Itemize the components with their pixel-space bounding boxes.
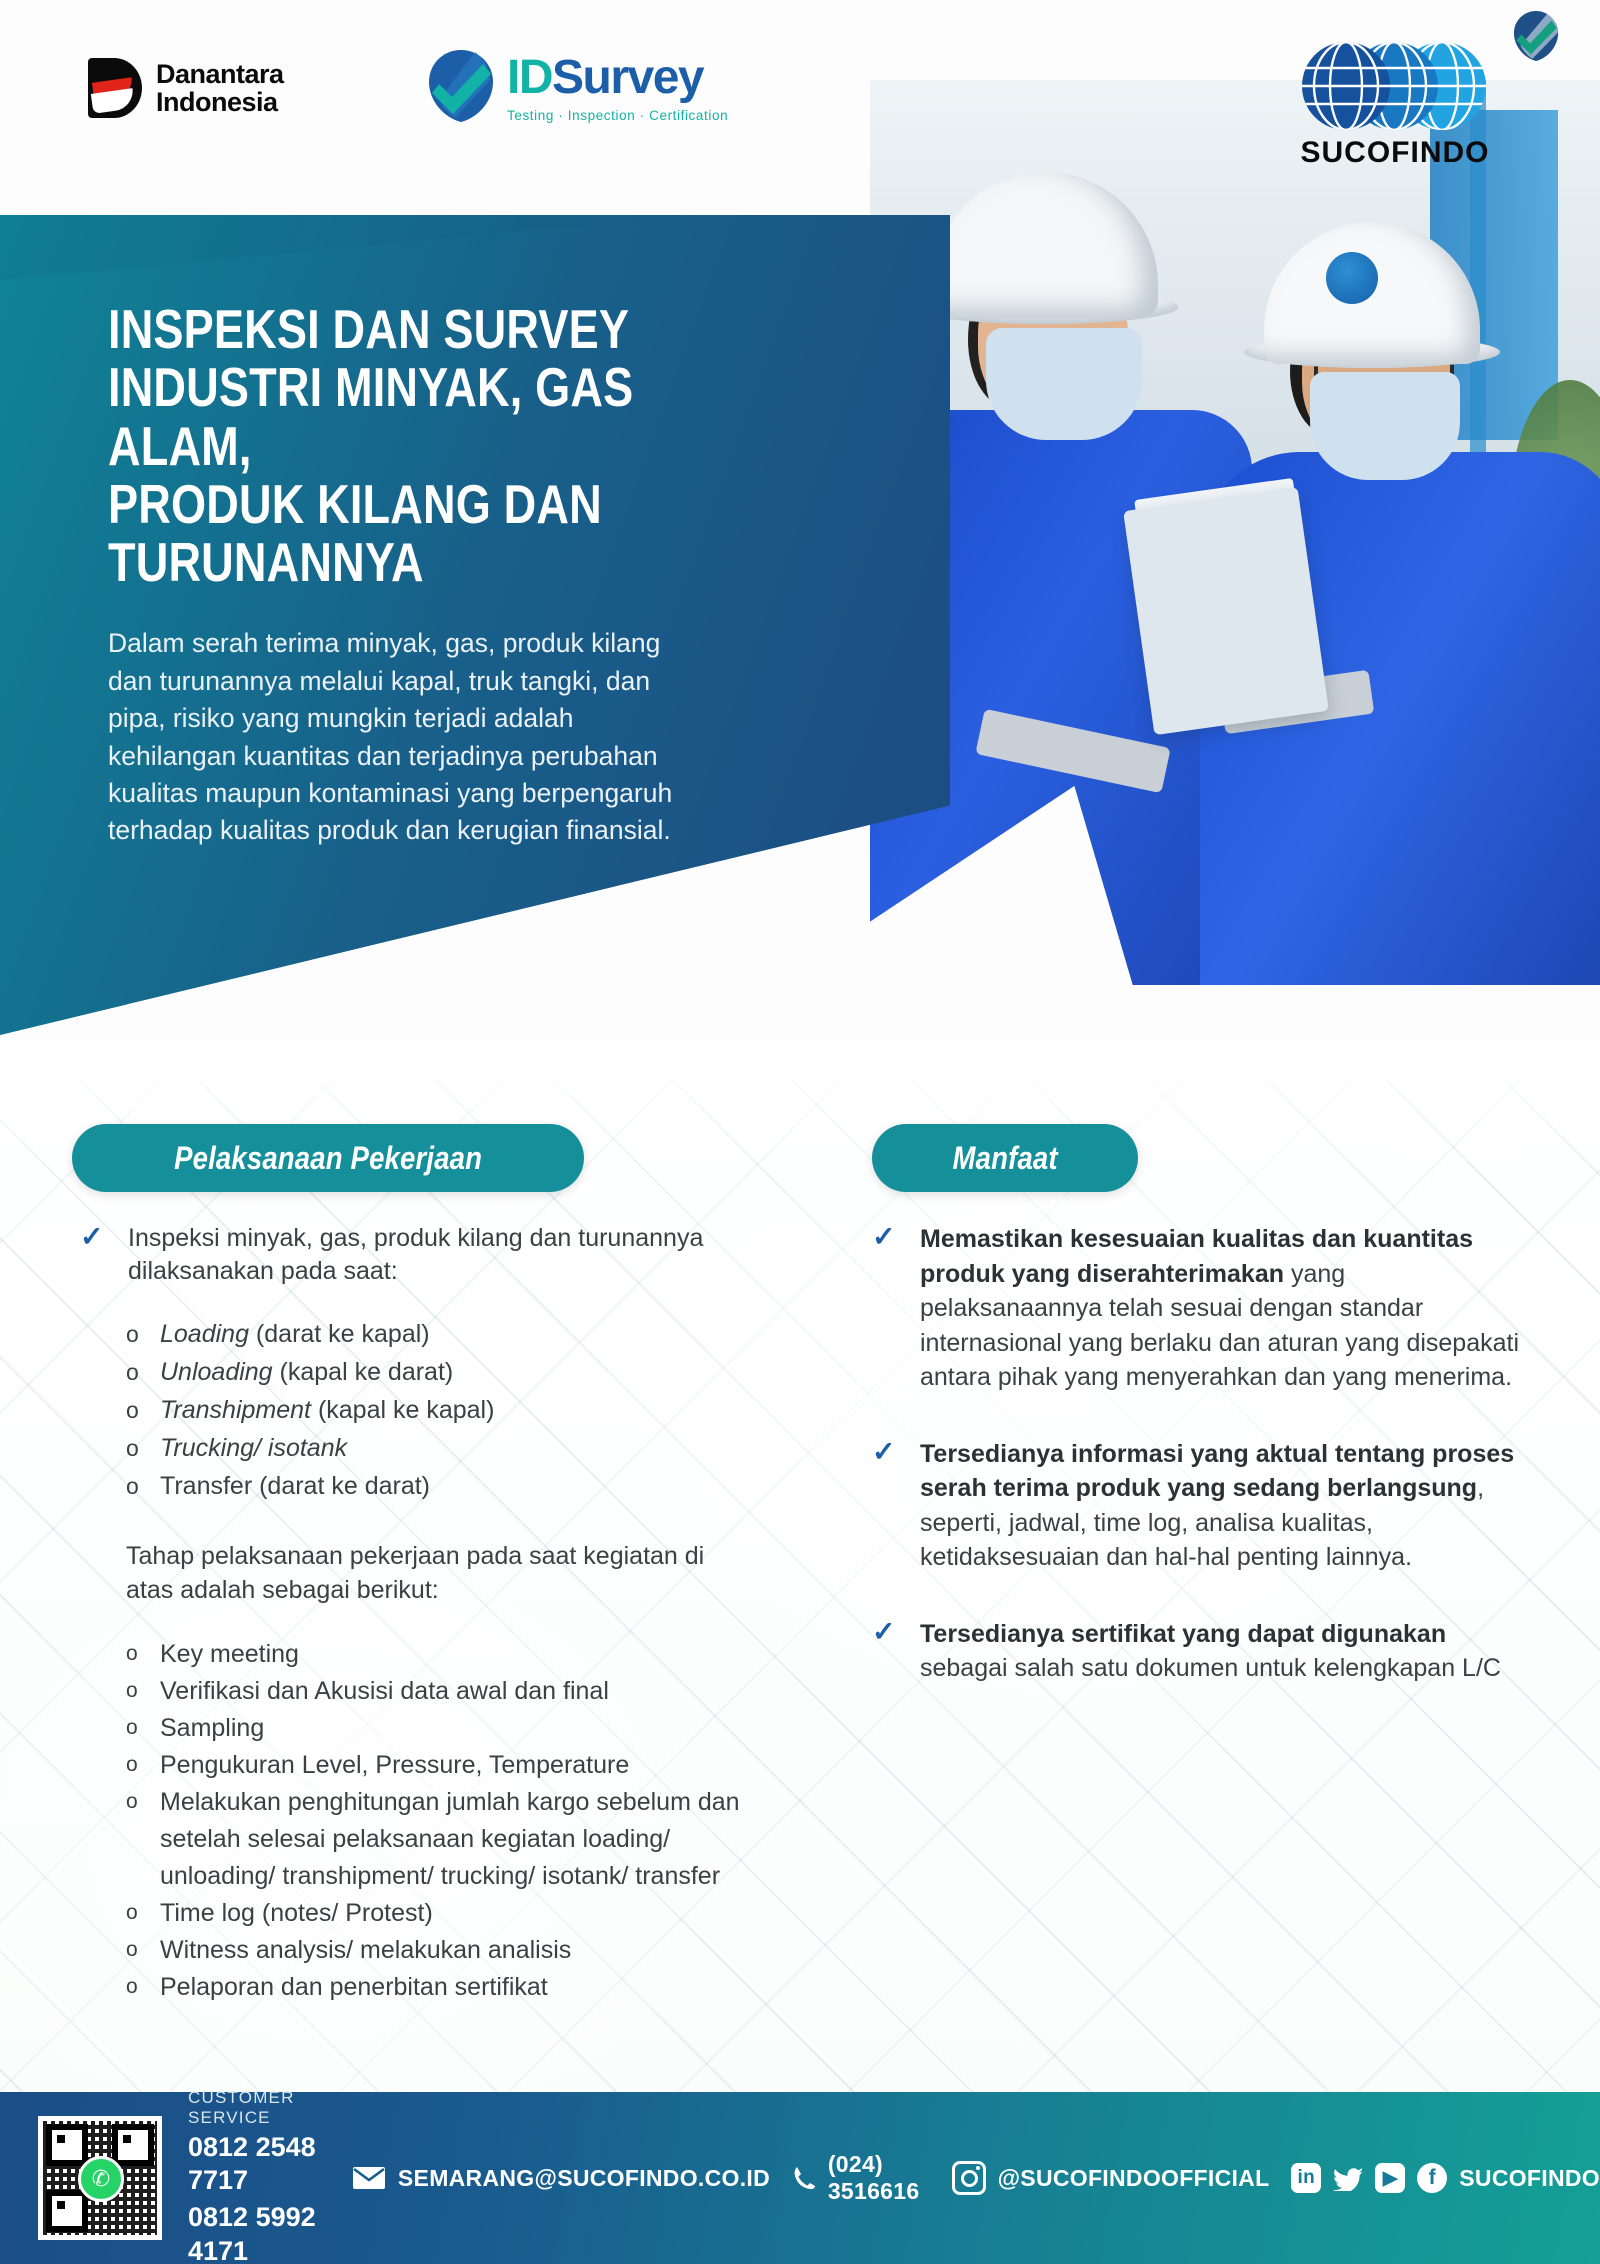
left-column: ✓ Inspeksi minyak, gas, produk kilang da… — [80, 1222, 800, 2006]
idsurvey-wordmark: IDSurvey Testing · Inspection · Certific… — [507, 54, 728, 123]
linkedin-icon[interactable]: in — [1291, 2163, 1321, 2193]
circle-bullet-icon: o — [126, 1431, 142, 1466]
hero-description: Dalam serah terima minyak, gas, produk k… — [108, 625, 748, 849]
instagram-contact[interactable]: @SUCOFINDOOFFICIAL — [952, 2161, 1270, 2195]
photo-clipboard — [1123, 487, 1329, 735]
check-icon: ✓ — [872, 1437, 898, 1468]
list-item: o Unloading (kapal ke darat) — [126, 1353, 800, 1391]
circle-bullet-icon: o — [126, 1932, 142, 1968]
idsurvey-tagline: Testing · Inspection · Certification — [507, 108, 728, 123]
left-intro-text: Inspeksi minyak, gas, produk kilang dan … — [128, 1222, 800, 1289]
circle-bullet-icon: o — [126, 1355, 142, 1390]
email-contact[interactable]: SEMARANG@SUCOFINDO.CO.ID — [352, 2165, 770, 2192]
stage-text: Sampling — [160, 1710, 780, 1747]
list-item: o Key meeting — [126, 1636, 800, 1673]
facebook-icon[interactable]: f — [1417, 2163, 1447, 2193]
youtube-icon[interactable]: ▶ — [1375, 2163, 1405, 2193]
circle-bullet-icon: o — [126, 1317, 142, 1352]
circle-bullet-icon: o — [126, 1747, 142, 1783]
instagram-text: @SUCOFINDOOFFICIAL — [998, 2165, 1270, 2192]
hero-content: INSPEKSI DAN SURVEY INDUSTRI MINYAK, GAS… — [108, 300, 898, 850]
idsurvey-id-text: ID — [507, 51, 552, 104]
list-item: o Transfer (darat ke darat) — [126, 1467, 800, 1505]
danantara-mark-icon — [88, 58, 142, 118]
benefit-item: ✓ Tersedianya sertifikat yang dapat digu… — [872, 1617, 1532, 1686]
whatsapp-icon: ✆ — [78, 2156, 124, 2202]
stage-text: Pelaporan dan penerbitan sertifikat — [160, 1969, 780, 2006]
circle-bullet-icon: o — [126, 1636, 142, 1672]
activity-term: Trucking/ isotank — [160, 1434, 347, 1462]
activity-detail: (kapal ke darat) — [273, 1358, 454, 1386]
stage-text: Pengukuran Level, Pressure, Temperature — [160, 1747, 780, 1784]
list-item: o Witness analysis/ melakukan analisis — [126, 1932, 800, 1969]
activity-term: Transhipment — [160, 1396, 311, 1424]
circle-bullet-icon: o — [126, 1673, 142, 1709]
poster-root: Danantara Indonesia IDSurvey Testing · I… — [0, 0, 1600, 2264]
twitter-icon[interactable] — [1333, 2165, 1363, 2191]
benefit-item: ✓ Tersedianya informasi yang aktual tent… — [872, 1437, 1532, 1575]
circle-bullet-icon: o — [126, 1710, 142, 1746]
circle-bullet-icon: o — [126, 1895, 142, 1931]
section-header-pelaksanaan: Pelaksanaan Pekerjaan — [72, 1124, 584, 1192]
circle-bullet-icon: o — [126, 1393, 142, 1428]
check-icon: ✓ — [80, 1222, 106, 1253]
circle-bullet-icon: o — [126, 1784, 142, 1820]
circle-bullet-icon: o — [126, 1969, 142, 2005]
benefit-text: Tersedianya sertifikat yang dapat diguna… — [920, 1617, 1520, 1686]
stage-text: Verifikasi dan Akusisi data awal dan fin… — [160, 1673, 780, 1710]
intro-row: ✓ Inspeksi minyak, gas, produk kilang da… — [80, 1222, 800, 1289]
social-handle-text: SUCOFINDO — [1459, 2165, 1600, 2192]
danantara-line2: Indonesia — [156, 88, 284, 116]
benefit-text: Tersedianya informasi yang aktual tentan… — [920, 1437, 1520, 1575]
activity-term: Loading — [160, 1320, 249, 1348]
idsurvey-logo: IDSurvey Testing · Inspection · Certific… — [425, 48, 728, 124]
check-icon: ✓ — [872, 1617, 898, 1648]
stage-text: Witness analysis/ melakukan analisis — [160, 1932, 780, 1969]
photo-worker1-mask — [986, 328, 1142, 440]
list-item: o Loading (darat ke kapal) — [126, 1315, 800, 1353]
benefit-headline: Tersedianya informasi yang aktual tentan… — [920, 1440, 1514, 1503]
activity-term: Unloading — [160, 1358, 273, 1386]
list-item: o Transhipment (kapal ke kapal) — [126, 1391, 800, 1429]
stage-text: Time log (notes/ Protest) — [160, 1895, 780, 1932]
list-item: o Verifikasi dan Akusisi data awal dan f… — [126, 1673, 800, 1710]
list-item: o Pengukuran Level, Pressure, Temperatur… — [126, 1747, 800, 1784]
danantara-wordmark: Danantara Indonesia — [156, 60, 284, 116]
activity-detail: (kapal ke kapal) — [311, 1396, 494, 1424]
footer-bar: ✆ CUSTOMER SERVICE 0812 2548 7717 0812 5… — [0, 2092, 1600, 2264]
list-item: o Pelaporan dan penerbitan sertifikat — [126, 1969, 800, 2006]
section-title-left: Pelaksanaan Pekerjaan — [174, 1140, 482, 1177]
idsurvey-survey-text: Survey — [552, 51, 703, 104]
qr-finder-bottom-left — [46, 2190, 88, 2232]
qr-finder-top-left — [46, 2124, 88, 2166]
social-handles[interactable]: in ▶ f SUCOFINDO — [1291, 2163, 1600, 2193]
activity-detail: (darat ke kapal) — [249, 1320, 430, 1348]
customer-service-label: CUSTOMER SERVICE — [188, 2088, 330, 2128]
idsurvey-badge-icon — [1508, 8, 1564, 64]
section-title-right: Manfaat — [952, 1140, 1057, 1177]
check-icon: ✓ — [872, 1222, 898, 1253]
sucofindo-logo: SUCOFINDO — [1290, 38, 1500, 170]
benefit-body: sebagai salah satu dokumen untuk kelengk… — [920, 1654, 1501, 1682]
benefit-headline: Memastikan kesesuaian kualitas dan kuant… — [920, 1225, 1473, 1288]
list-item: o Sampling — [126, 1710, 800, 1747]
right-column: ✓ Memastikan kesesuaian kualitas dan kua… — [872, 1222, 1532, 1728]
telephone-contact[interactable]: (024) 3516616 — [792, 2151, 930, 2205]
email-text: SEMARANG@SUCOFINDO.CO.ID — [398, 2165, 770, 2192]
customer-service-block: CUSTOMER SERVICE 0812 2548 7717 0812 599… — [188, 2088, 330, 2264]
list-item: o Melakukan penghitungan jumlah kargo se… — [126, 1784, 800, 1895]
list-item: o Time log (notes/ Protest) — [126, 1895, 800, 1932]
section-header-manfaat: Manfaat — [872, 1124, 1138, 1192]
benefit-item: ✓ Memastikan kesesuaian kualitas dan kua… — [872, 1222, 1532, 1395]
benefit-text: Memastikan kesesuaian kualitas dan kuant… — [920, 1222, 1520, 1395]
telephone-text: (024) 3516616 — [828, 2151, 930, 2205]
stage-text: Key meeting — [160, 1636, 780, 1673]
instagram-icon — [952, 2161, 986, 2195]
sucofindo-globes-icon — [1290, 38, 1500, 134]
header-logos: Danantara Indonesia IDSurvey Testing · I… — [0, 0, 1600, 200]
photo-helmet-logo — [1326, 252, 1378, 304]
hero-photo — [870, 80, 1600, 985]
circle-bullet-icon: o — [126, 1469, 142, 1504]
envelope-icon — [352, 2166, 386, 2190]
stage-text: Melakukan penghitungan jumlah kargo sebe… — [160, 1784, 780, 1895]
cs-phone-2[interactable]: 0812 5992 4171 — [188, 2201, 330, 2264]
stages-list: o Key meeting o Verifikasi dan Akusisi d… — [126, 1636, 800, 2006]
activity-detail: Transfer (darat ke darat) — [160, 1472, 430, 1500]
activities-list: o Loading (darat ke kapal) o Unloading (… — [126, 1315, 800, 1505]
benefit-headline: Tersedianya sertifikat yang dapat diguna… — [920, 1620, 1446, 1648]
danantara-line1: Danantara — [156, 60, 284, 88]
hero-title: INSPEKSI DAN SURVEY INDUSTRI MINYAK, GAS… — [108, 300, 756, 591]
photo-worker2-mask — [1310, 372, 1460, 480]
qr-finder-top-right — [112, 2124, 154, 2166]
sucofindo-wordmark: SUCOFINDO — [1290, 136, 1500, 170]
cs-phone-1[interactable]: 0812 2548 7717 — [188, 2131, 330, 2199]
idsurvey-check-mark-icon — [425, 48, 497, 124]
danantara-logo: Danantara Indonesia — [88, 58, 284, 118]
phone-icon — [792, 2165, 816, 2191]
left-lead-text: Tahap pelaksanaan pekerjaan pada saat ke… — [126, 1539, 736, 1608]
list-item: o Trucking/ isotank — [126, 1429, 800, 1467]
qr-code[interactable]: ✆ — [38, 2116, 162, 2240]
